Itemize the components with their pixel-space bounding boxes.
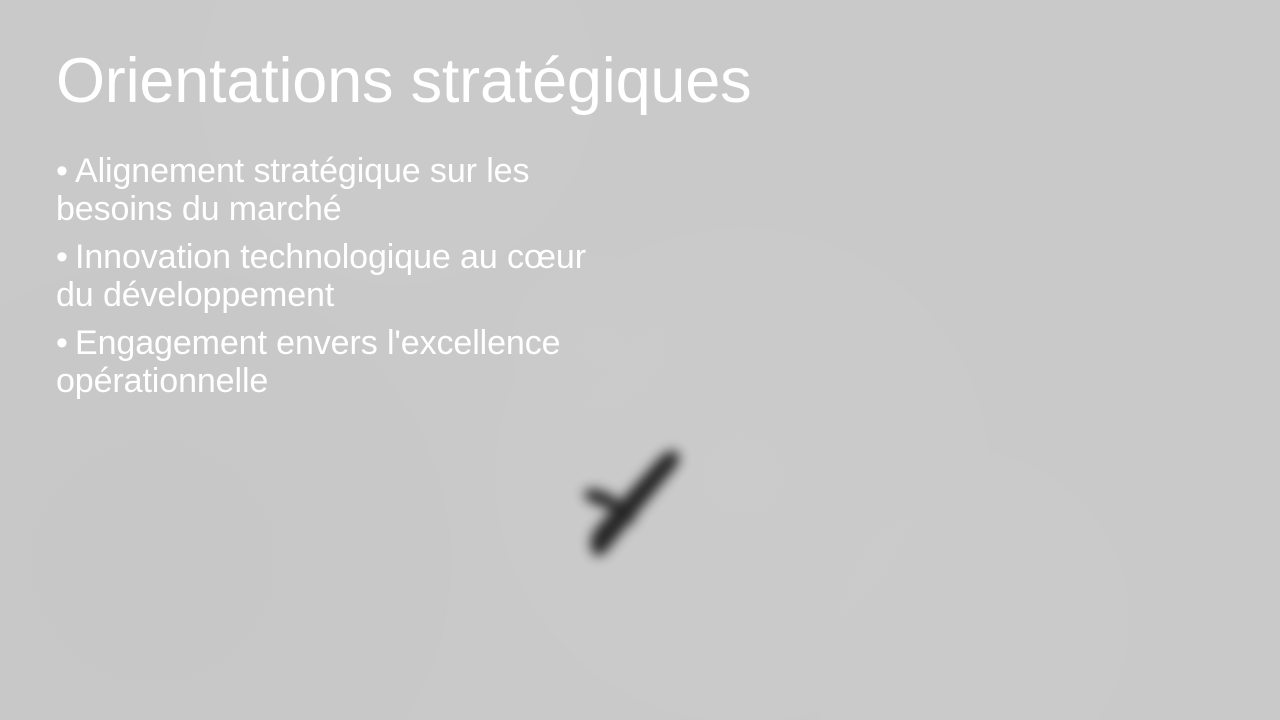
bullet-text: Alignement stratégique sur les besoins d… [56, 152, 529, 228]
bird-silhouette-icon [560, 432, 710, 577]
bullet-marker-icon: • [56, 238, 75, 276]
bullet-marker-icon: • [56, 152, 75, 190]
bullet-text: Innovation technologique au cœur du déve… [56, 238, 586, 314]
slide-title: Orientations stratégiques [56, 47, 1156, 115]
bullet-item: •Engagement envers l'excellence opératio… [56, 324, 596, 400]
bullet-marker-icon: • [56, 324, 75, 362]
bullet-item: •Alignement stratégique sur les besoins … [56, 152, 596, 228]
presentation-slide: Orientations stratégiques •Alignement st… [0, 0, 1280, 720]
bullet-text: Engagement envers l'excellence opération… [56, 324, 560, 400]
bullet-item: •Innovation technologique au cœur du dév… [56, 238, 596, 314]
bullet-list: •Alignement stratégique sur les besoins … [56, 152, 596, 400]
